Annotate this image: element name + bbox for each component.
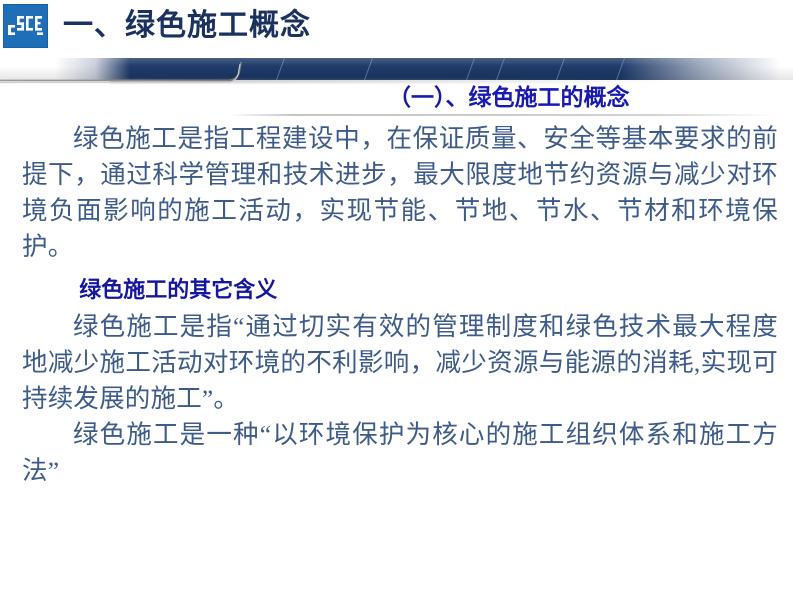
section-subtitle: （一）、绿色施工的概念 (388, 78, 630, 112)
page-title: 一、绿色施工概念 (63, 6, 311, 46)
slide: cSCEc 一、绿色施工概念 （一）、绿色施工的概念 绿色 (0, 0, 793, 595)
subtitle-divider (228, 114, 776, 116)
body-subheading: 绿色施工的其它含义 (22, 273, 778, 307)
paragraph-other-meaning-2: 绿色施工是一种“以环境保护为核心的施工组织体系和施工方法” (22, 417, 778, 489)
paragraph-definition: 绿色施工是指工程建设中，在保证质量、安全等基本要求的前提下，通过科学管理和技术进… (22, 121, 778, 265)
slide-header: cSCEc 一、绿色施工概念 (0, 0, 793, 52)
header-hook-rule (0, 60, 300, 96)
slide-body: 绿色施工是指工程建设中，在保证质量、安全等基本要求的前提下，通过科学管理和技术进… (22, 121, 778, 489)
company-logo-icon: cSCEc (3, 4, 48, 48)
paragraph-other-meaning-1: 绿色施工是指“通过切实有效的管理制度和绿色技术最大程度地减少施工活动对环境的不利… (22, 309, 778, 417)
